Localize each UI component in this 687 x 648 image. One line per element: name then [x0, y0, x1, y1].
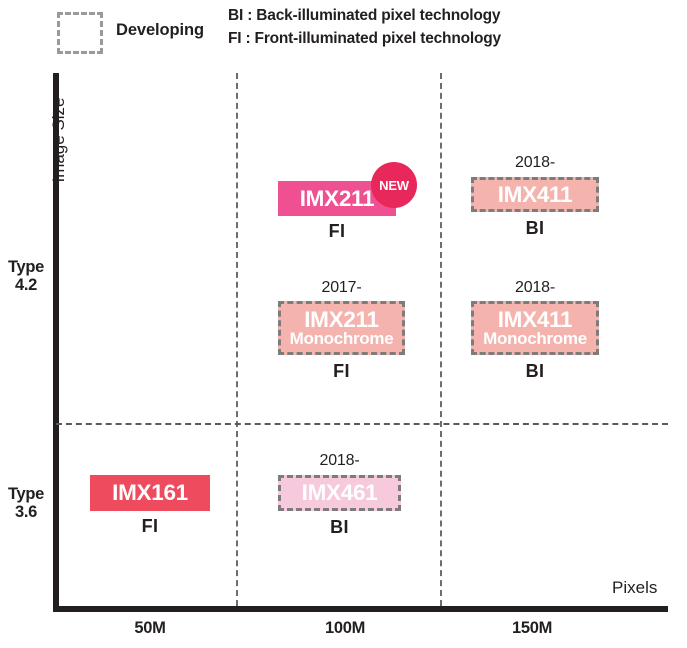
y-axis-title: Image Size: [49, 75, 69, 205]
product-year-imx211-monochrome: 2017-: [278, 279, 405, 297]
x-axis-line: [53, 606, 668, 612]
product-year-imx411: 2018-: [471, 154, 599, 172]
product-subtitle-imx411-monochrome: Monochrome: [483, 330, 587, 348]
product-name-imx411: IMX411: [498, 183, 573, 207]
product-name-imx211: IMX211: [300, 187, 375, 211]
product-tech-imx211: FI: [278, 221, 396, 242]
product-name-imx211-monochrome: IMX211: [304, 308, 379, 332]
legend-bi-note: BI : Back-illuminated pixel technology: [228, 7, 500, 25]
legend-fi-note: FI : Front-illuminated pixel technology: [228, 30, 501, 48]
vertical-gridline-100m: [236, 73, 238, 606]
product-name-imx411-monochrome: IMX411: [498, 308, 573, 332]
new-badge-icon: NEW: [371, 162, 417, 208]
product-name-imx161: IMX161: [112, 481, 188, 505]
product-chip-imx411[interactable]: IMX411: [471, 177, 599, 212]
horizontal-gridline-type: [56, 423, 668, 425]
product-year-imx411-monochrome: 2018-: [471, 279, 599, 297]
vertical-gridline-150m: [440, 73, 442, 606]
x-axis-title: Pixels: [612, 578, 657, 598]
legend-developing-label: Developing: [116, 21, 204, 40]
product-chip-imx161[interactable]: IMX161: [90, 475, 210, 511]
y-tick-type-4-2: Type 4.2: [0, 259, 52, 295]
product-chip-imx461[interactable]: IMX461: [278, 475, 401, 511]
product-tech-imx461: BI: [278, 517, 401, 538]
x-tick-150m: 150M: [472, 619, 592, 638]
y-tick-type-4-2-line1: Type: [0, 259, 52, 277]
product-tech-imx161: FI: [90, 516, 210, 537]
product-tech-imx411-monochrome: BI: [471, 361, 599, 382]
product-name-imx461: IMX461: [302, 481, 378, 505]
y-tick-type-3-6-line2: 3.6: [0, 504, 52, 522]
product-chip-imx211-monochrome[interactable]: IMX211 Monochrome: [278, 301, 405, 355]
product-tech-imx411: BI: [471, 218, 599, 239]
y-tick-type-3-6: Type 3.6: [0, 486, 52, 522]
product-subtitle-imx211-monochrome: Monochrome: [290, 330, 394, 348]
sensor-roadmap-chart: Developing BI : Back-illuminated pixel t…: [0, 0, 687, 648]
x-tick-50m: 50M: [90, 619, 210, 638]
y-tick-type-3-6-line1: Type: [0, 486, 52, 504]
developing-swatch-icon: [57, 12, 103, 54]
x-tick-100m: 100M: [285, 619, 405, 638]
product-chip-imx411-monochrome[interactable]: IMX411 Monochrome: [471, 301, 599, 355]
product-tech-imx211-monochrome: FI: [278, 361, 405, 382]
product-year-imx461: 2018-: [278, 452, 401, 470]
y-tick-type-4-2-line2: 4.2: [0, 277, 52, 295]
